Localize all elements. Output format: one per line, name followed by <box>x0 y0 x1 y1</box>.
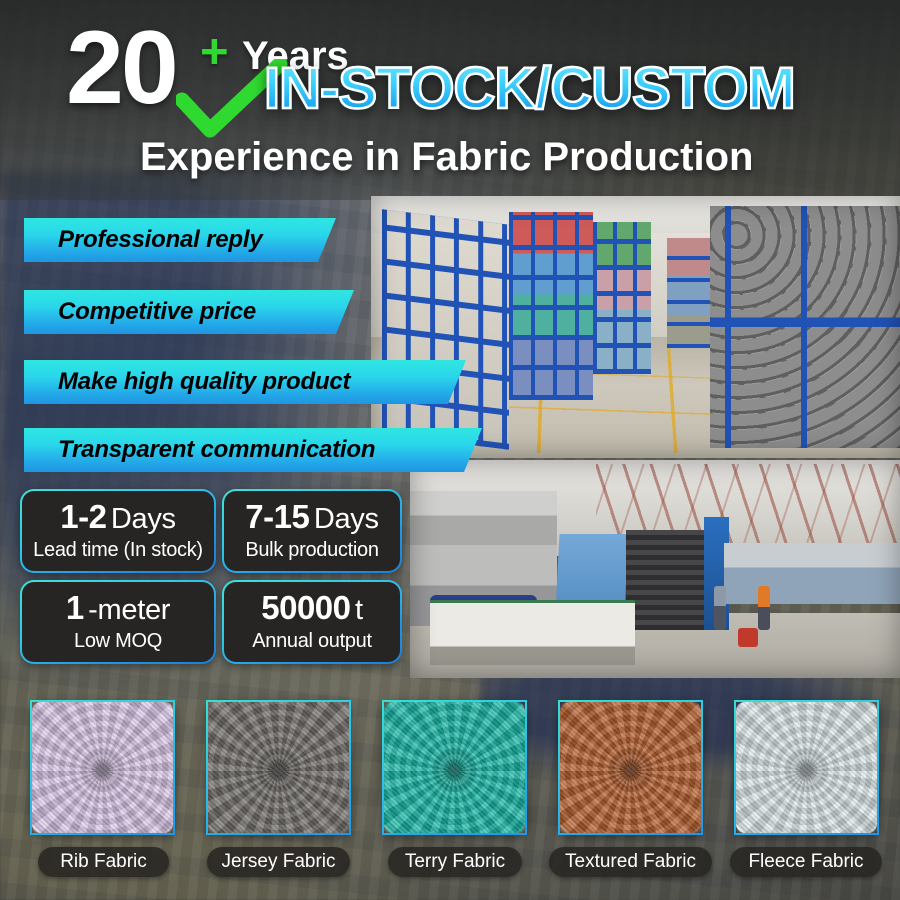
fabric-swatch-fleece <box>734 700 879 835</box>
textile-factory-floor-photo <box>410 460 900 678</box>
fabric-swatch-terry <box>382 700 527 835</box>
stat-card-low-moq: 1 -meter Low MOQ <box>20 580 216 664</box>
stat-card-lead-time: 1-2 Days Lead time (In stock) <box>20 489 216 573</box>
fabric-label-fleece: Fleece Fabric <box>730 847 882 877</box>
stat-value: 7-15 <box>245 498 309 535</box>
instock-custom-title: IN-STOCK/CUSTOM <box>264 58 795 120</box>
stat-value-row: 50000 t <box>261 591 362 625</box>
fabric-swatch-jersey <box>206 700 351 835</box>
stat-caption: Annual output <box>252 630 372 653</box>
stat-value-row: 1-2 Days <box>60 500 176 534</box>
stat-value: 1-2 <box>60 498 106 535</box>
stat-value-row: 7-15 Days <box>245 500 378 534</box>
fabric-label-terry: Terry Fabric <box>388 847 522 877</box>
stat-unit: -meter <box>88 594 170 626</box>
stat-unit: t <box>355 594 363 626</box>
stat-unit: Days <box>111 503 176 535</box>
fabric-label-rib: Rib Fabric <box>38 847 169 877</box>
headline-block: 20 + Years IN-STOCK/CUSTOM Experience in… <box>0 0 900 195</box>
page-subtitle: Experience in Fabric Production <box>140 134 753 180</box>
stat-caption: Bulk production <box>245 539 378 562</box>
feature-tag-label: Transparent communication <box>24 436 375 464</box>
stat-caption: Low MOQ <box>74 630 162 653</box>
promo-banner: 20 + Years IN-STOCK/CUSTOM Experience in… <box>0 0 900 900</box>
feature-tag-competitive-price: Competitive price <box>24 290 354 334</box>
stat-value: 50000 <box>261 589 350 626</box>
fabric-swatch-rib <box>30 700 175 835</box>
feature-tag-label: Competitive price <box>24 298 256 326</box>
fabric-label-jersey: Jersey Fabric <box>207 847 350 877</box>
feature-tag-label: Professional reply <box>24 226 262 254</box>
fabric-image <box>384 702 525 833</box>
fabric-image <box>208 702 349 833</box>
fabric-swatch-textured <box>558 700 703 835</box>
stat-unit: Days <box>314 503 379 535</box>
stat-value: 1 <box>66 589 84 626</box>
feature-tag-transparent-communication: Transparent communication <box>24 428 482 472</box>
feature-tag-professional-reply: Professional reply <box>24 218 336 262</box>
stat-caption: Lead time (In stock) <box>33 539 203 562</box>
feature-tag-high-quality-product: Make high quality product <box>24 360 466 404</box>
fabric-label-textured: Textured Fabric <box>549 847 712 877</box>
photo-vignette <box>410 460 900 678</box>
fabric-image <box>560 702 701 833</box>
stat-value-row: 1 -meter <box>66 591 170 625</box>
fabric-image <box>32 702 173 833</box>
photo-vignette <box>371 196 900 458</box>
plus-symbol: + <box>200 32 229 72</box>
stat-card-bulk-production: 7-15 Days Bulk production <box>222 489 402 573</box>
feature-tag-label: Make high quality product <box>24 368 350 396</box>
fabric-roll-warehouse-photo <box>371 196 900 458</box>
years-number: 20 <box>66 16 176 120</box>
fabric-image <box>736 702 877 833</box>
stat-card-annual-output: 50000 t Annual output <box>222 580 402 664</box>
